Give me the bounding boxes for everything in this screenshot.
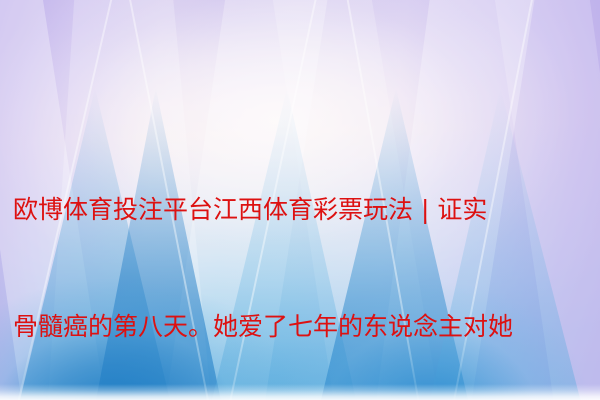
headline-text: 欧博体育投注平台江西体育彩票玩法 | 证实 骨髓癌的第八天。她爱了七年的东说念主… [13,112,591,400]
headline-line-2: 骨髓癌的第八天。她爱了七年的东说念主对她 [13,307,591,346]
banner-image: 欧博体育投注平台江西体育彩票玩法 | 证实 骨髓癌的第八天。她爱了七年的东说念主… [0,0,600,400]
headline-line-1: 欧博体育投注平台江西体育彩票玩法 | 证实 [13,190,591,229]
